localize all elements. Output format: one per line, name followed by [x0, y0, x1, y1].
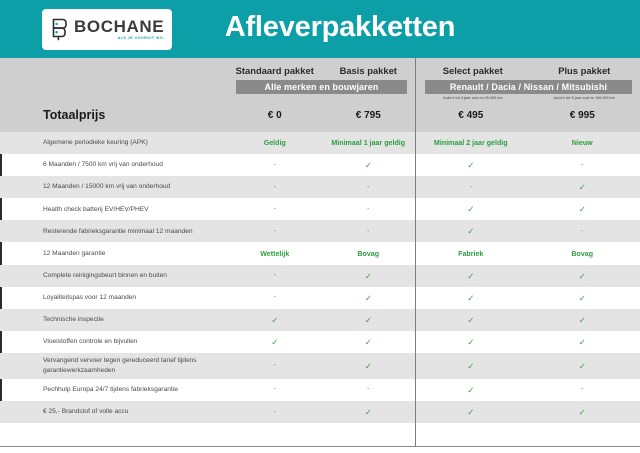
not-included-dash: -: [322, 184, 416, 191]
not-included-dash: -: [228, 228, 322, 235]
not-included-dash: -: [415, 184, 527, 191]
row-label: Vervangend vervoer tegen gereduceerd tar…: [0, 356, 228, 375]
check-icon: ✓: [527, 337, 639, 347]
not-included-dash: -: [228, 184, 322, 191]
table-tail-spacer: [0, 432, 640, 446]
check-icon: ✓: [415, 271, 527, 281]
column-subnote-plus: Auto's tot 5 jaar oud en 100.000 km: [529, 96, 640, 100]
not-included-dash: -: [527, 228, 639, 235]
table-row: 6 Maanden / 7500 km vrij van onderhoud-✓…: [0, 154, 640, 176]
price-select: € 495: [415, 110, 527, 121]
table-row: Resterende fabrieksgarantie minimaal 12 …: [0, 220, 640, 242]
check-icon: ✓: [415, 293, 527, 303]
not-included-dash: -: [228, 272, 322, 279]
check-icon: ✓: [228, 315, 322, 325]
not-included-dash: -: [527, 386, 639, 393]
cell-value: Wettelijk: [228, 250, 322, 258]
table-row: 12 Maanden / 15000 km vrij van onderhoud…: [0, 176, 640, 198]
check-icon: ✓: [527, 293, 639, 303]
check-icon: ✓: [415, 226, 527, 236]
table-row: Health check batterij EV/HEV/PHEV--✓✓: [0, 198, 640, 220]
cell-value: Minimaal 1 jaar geldig: [322, 139, 416, 147]
check-icon: ✓: [527, 407, 639, 417]
check-icon: ✓: [527, 361, 639, 371]
row-label: Technische inspectie: [0, 315, 228, 325]
row-left-edge-mark: [0, 198, 2, 220]
table-row: Technische inspectie✓✓✓✓: [0, 309, 640, 331]
check-icon: ✓: [415, 204, 527, 214]
table-row: Algemene periodieke keuring (APK)GeldigM…: [0, 132, 640, 154]
check-icon: ✓: [322, 361, 416, 371]
not-included-dash: -: [322, 206, 416, 213]
check-icon: ✓: [527, 271, 639, 281]
package-group-a-scope-bar: Alle merken en bouwjaren: [236, 80, 407, 94]
row-left-edge-mark: [0, 287, 2, 309]
column-header-select-pakket[interactable]: Select pakket: [417, 65, 529, 76]
row-label: 6 Maanden / 7500 km vrij van onderhoud: [0, 160, 228, 170]
column-subnote-select: Auto's tot 3 jaar oud en 20.000 km: [417, 96, 529, 100]
check-icon: ✓: [527, 204, 639, 214]
check-icon: ✓: [415, 385, 527, 395]
package-group-b-scope-bar: Renault / Dacia / Nissan / Mitsubishi: [425, 80, 632, 94]
row-label: 12 Maanden garantie: [0, 249, 228, 259]
cell-value: Bovag: [527, 250, 639, 258]
row-label: Vloeistoffen controle en bijvullen: [0, 337, 228, 347]
check-icon: ✓: [415, 315, 527, 325]
check-icon: ✓: [415, 160, 527, 170]
not-included-dash: -: [228, 162, 322, 169]
check-icon: ✓: [322, 160, 416, 170]
package-group-b-subnotes: Auto's tot 3 jaar oud en 20.000 km Auto'…: [417, 96, 640, 100]
check-icon: ✓: [322, 293, 416, 303]
table-row: € 25,- Brandstof of volle accu-✓✓✓: [0, 401, 640, 423]
not-included-dash: -: [322, 386, 416, 393]
cell-value: Nieuw: [527, 139, 639, 147]
check-icon: ✓: [415, 361, 527, 371]
table-header-band: Standaard pakket Basis pakket Alle merke…: [0, 58, 640, 132]
table-row: Vloeistoffen controle en bijvullen✓✓✓✓: [0, 331, 640, 353]
row-label: Complete reinigingsbeurt binnen en buite…: [0, 271, 228, 281]
row-label: 12 Maanden / 15000 km vrij van onderhoud: [0, 182, 228, 192]
cell-value: Bovag: [322, 250, 416, 258]
column-header-plus-pakket[interactable]: Plus pakket: [529, 65, 640, 76]
row-label: € 25,- Brandstof of volle accu: [0, 407, 228, 417]
package-group-a-titles: Standaard pakket Basis pakket: [228, 65, 415, 76]
row-label: Pechhulp Europa 24/7 tijdens fabrieksgar…: [0, 385, 228, 395]
not-included-dash: -: [228, 294, 322, 301]
table-bottom-border: [0, 446, 640, 453]
package-group-b-titles: Select pakket Plus pakket: [417, 65, 640, 76]
row-left-edge-mark: [0, 331, 2, 353]
row-left-edge-mark: [0, 242, 2, 264]
page-title: Afleverpakketten: [0, 11, 640, 44]
price-standaard: € 0: [228, 110, 322, 121]
check-icon: ✓: [322, 337, 416, 347]
row-label: Health check batterij EV/HEV/PHEV: [0, 205, 228, 215]
column-header-basis-pakket[interactable]: Basis pakket: [322, 65, 416, 76]
not-included-dash: -: [527, 162, 639, 169]
page-banner: BOCHANE ALS JE VOORUIT WIL Afleverpakket…: [0, 0, 640, 58]
not-included-dash: -: [228, 386, 322, 393]
not-included-dash: -: [228, 206, 322, 213]
check-icon: ✓: [322, 271, 416, 281]
check-icon: ✓: [322, 407, 416, 417]
row-left-edge-mark: [0, 154, 2, 176]
group-divider: [415, 58, 416, 446]
check-icon: ✓: [527, 315, 639, 325]
table-row: 12 Maanden garantieWettelijkBovagFabriek…: [0, 242, 640, 264]
table-row: Complete reinigingsbeurt binnen en buite…: [0, 265, 640, 287]
cell-value: Minimaal 2 jaar geldig: [415, 139, 527, 147]
not-included-dash: -: [228, 409, 322, 416]
feature-table-body: Algemene periodieke keuring (APK)GeldigM…: [0, 132, 640, 453]
column-header-standaard-pakket[interactable]: Standaard pakket: [228, 65, 322, 76]
row-label: Resterende fabrieksgarantie minimaal 12 …: [0, 227, 228, 237]
check-icon: ✓: [415, 407, 527, 417]
price-basis: € 795: [322, 110, 416, 121]
row-label: Loyaliteitspas voor 12 maanden: [0, 293, 228, 303]
check-icon: ✓: [527, 182, 639, 192]
row-left-edge-mark: [0, 379, 2, 401]
table-row: Vervangend vervoer tegen gereduceerd tar…: [0, 353, 640, 379]
check-icon: ✓: [228, 337, 322, 347]
not-included-dash: -: [322, 228, 416, 235]
row-label: Algemene periodieke keuring (APK): [0, 138, 228, 148]
table-row: Loyaliteitspas voor 12 maanden-✓✓✓: [0, 287, 640, 309]
not-included-dash: -: [228, 362, 322, 369]
cell-value: Geldig: [228, 139, 322, 147]
cell-value: Fabriek: [415, 250, 527, 258]
check-icon: ✓: [322, 315, 416, 325]
check-icon: ✓: [415, 337, 527, 347]
afleverpakketten-page: BOCHANE ALS JE VOORUIT WIL Afleverpakket…: [0, 0, 640, 453]
table-row: Pechhulp Europa 24/7 tijdens fabrieksgar…: [0, 379, 640, 401]
price-plus: € 995: [527, 110, 639, 121]
total-price-row: € 0 € 795 € 495 € 995: [0, 110, 640, 121]
